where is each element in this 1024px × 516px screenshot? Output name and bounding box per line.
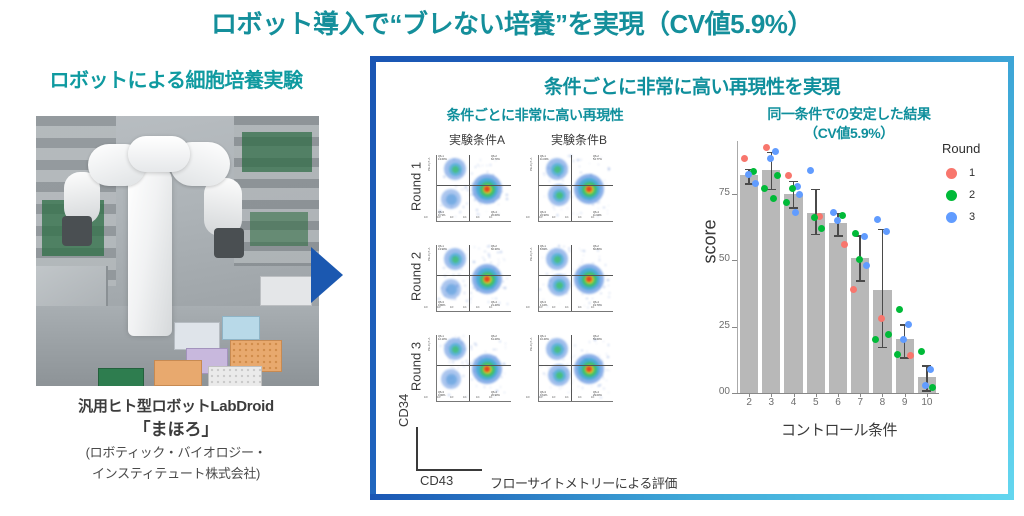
chart-error-cap — [767, 189, 776, 191]
chart-y-tick-mark — [732, 327, 737, 328]
chart-x-tick-label: 10 — [917, 397, 937, 408]
flow-scatter-panel: Q6-113.60% Q6-262.70% Q6-30.71% Q6-420.6… — [424, 149, 516, 233]
chart-x-tick-label: 6 — [828, 397, 848, 408]
chart-x-tick-mark — [794, 393, 795, 397]
chart-error-bar — [815, 189, 817, 234]
chart-data-point — [922, 382, 929, 389]
chart-error-cap — [878, 347, 887, 349]
right-arrow-icon — [311, 247, 343, 303]
chart-data-point — [850, 286, 857, 293]
chart-data-point — [863, 262, 870, 269]
flow-cytometry-block: 実験条件A 実験条件B Round 1 Round 2 Round 3 Q6-1… — [382, 131, 690, 483]
chart-data-point — [745, 171, 752, 178]
chart-data-point — [774, 172, 781, 179]
flow-plot-inner: Q6-113.60% Q6-262.70% Q6-30.71% Q6-420.6… — [436, 155, 511, 222]
left-column: ロボットによる細胞培養実験 汎用ヒト型ロボットLabDroid 「まほろ」 (ロ… — [0, 58, 352, 516]
legend-item-label: 1 — [969, 167, 975, 179]
chart-x-tick-label: 8 — [872, 397, 892, 408]
page-title: ロボット導入で“ブレない培養”を実現（CV値5.9%） — [0, 2, 1024, 46]
chart-data-point — [789, 185, 796, 192]
chart-data-point — [830, 209, 837, 216]
chart-y-tick-label: 25 — [704, 320, 730, 331]
chart-x-tick-mark — [905, 393, 906, 397]
legend-item[interactable]: 3 — [940, 206, 1004, 228]
flow-scatter-panel: Q6-113.90% Q6-260.30% Q6-30.80% Q6-421.4… — [424, 239, 516, 323]
chart-x-tick-label: 3 — [761, 397, 781, 408]
chart-data-point — [856, 256, 863, 263]
chart-data-point — [783, 199, 790, 206]
chart-data-point — [785, 172, 792, 179]
legend-item-label: 2 — [969, 189, 975, 201]
chart-error-cap — [811, 189, 820, 191]
flow-caption: フローサイトメトリーによる評価 — [490, 473, 677, 492]
chart-y-tick-label: 00 — [704, 386, 730, 397]
chart-x-tick-mark — [771, 393, 772, 397]
flow-plot-inner: Q6-18.82% Q6-260.80% Q6-31.10% Q6-419.70… — [538, 245, 613, 312]
flow-plot-inner: Q6-112.10% Q6-261.20% Q6-30.90% Q6-420.9… — [436, 335, 511, 402]
chart-bar — [807, 213, 825, 393]
chart-x-tick-mark — [816, 393, 817, 397]
legend-dot-icon — [946, 212, 957, 223]
legend-item[interactable]: 1 — [940, 162, 1004, 184]
chart-error-cap — [811, 234, 820, 236]
flow-scatter-panel: Q6-18.82% Q6-260.80% Q6-31.10% Q6-419.70… — [526, 239, 618, 323]
chart-error-bar — [882, 229, 884, 347]
panel-body: 条件ごとに非常に高い再現性 同一条件での安定した結果 （CV値5.9%） 実験条… — [376, 99, 1008, 489]
robot-caption-line2: 「まほろ」 — [0, 418, 352, 442]
flow-row-label-round2: Round 2 — [409, 237, 424, 317]
legend-dot-icon — [946, 190, 957, 201]
robot-caption-line3: (ロボティック・バイオロジー・ — [0, 442, 352, 463]
flow-x-axis-line — [416, 469, 482, 471]
chart-legend: Round 123 — [940, 141, 1004, 228]
chart-plot-area — [738, 141, 938, 393]
chart-data-point — [770, 195, 777, 202]
chart-data-point — [834, 217, 841, 224]
chart-data-point — [896, 306, 903, 313]
chart-error-cap — [834, 235, 843, 237]
chart-y-tick-mark — [732, 194, 737, 195]
flow-column-title-a: 実験条件A — [432, 131, 522, 148]
chart-subtitle-line1: 同一条件での安定した結果 — [694, 105, 1004, 124]
panel-title: 条件ごとに非常に高い再現性を実現 — [376, 72, 1008, 99]
chart-bar — [784, 194, 802, 393]
chart-data-point — [861, 233, 868, 240]
legend-dot-icon — [946, 168, 957, 179]
chart-error-cap — [856, 280, 865, 282]
chart-x-tick-mark — [749, 393, 750, 397]
flow-y-axis-line — [416, 427, 418, 471]
chart-data-point — [752, 180, 759, 187]
chart-y-tick-label: 75 — [704, 187, 730, 198]
results-panel: 条件ごとに非常に高い再現性を実現 条件ごとに非常に高い再現性 同一条件での安定し… — [370, 56, 1014, 500]
flow-plot-inner: Q6-113.90% Q6-260.30% Q6-30.80% Q6-421.4… — [436, 245, 511, 312]
chart-data-point — [807, 167, 814, 174]
chart-x-tick-label: 4 — [784, 397, 804, 408]
flow-section-subtitle: 条件ごとに非常に高い再現性 — [380, 105, 690, 125]
chart-data-point — [772, 148, 779, 155]
flow-scatter-panel: Q6-110.40% Q6-259.60% Q6-30.61% Q6-429.0… — [526, 329, 618, 413]
flow-plot-inner: Q6-111.00% Q6-254.77% Q6-322.90% Q6-411.… — [538, 155, 613, 222]
chart-x-tick-mark — [927, 393, 928, 397]
flow-column-title-b: 実験条件B — [534, 131, 624, 148]
score-bar-chart: score 002550752345678910 コントロール条件 Round … — [694, 135, 1004, 483]
chart-x-tick-mark — [838, 393, 839, 397]
chart-y-tick-label: 50 — [704, 253, 730, 264]
chart-y-tick-mark — [732, 260, 737, 261]
chart-data-point — [927, 366, 934, 373]
chart-x-tick-label: 7 — [850, 397, 870, 408]
chart-data-point — [741, 155, 748, 162]
chart-data-point — [767, 155, 774, 162]
chart-data-point — [874, 216, 881, 223]
robot-caption-line1: 汎用ヒト型ロボットLabDroid — [0, 396, 352, 418]
robot-photo — [36, 116, 319, 386]
chart-bar — [829, 223, 847, 393]
chart-x-tick-label: 9 — [895, 397, 915, 408]
flow-scatter-panel: Q6-112.10% Q6-261.20% Q6-30.90% Q6-420.9… — [424, 329, 516, 413]
flow-y-axis-label: CD34 — [396, 394, 411, 427]
chart-x-axis-label: コントロール条件 — [694, 419, 984, 440]
chart-data-point — [918, 348, 925, 355]
robot-caption-line4: インスティテュート株式会社) — [0, 463, 352, 484]
flow-row-label-round1: Round 1 — [409, 147, 424, 227]
chart-data-point — [763, 144, 770, 151]
chart-x-tick-label: 5 — [806, 397, 826, 408]
chart-y-tick-mark — [732, 393, 737, 394]
chart-data-point — [905, 321, 912, 328]
legend-title: Round — [940, 141, 1004, 156]
chart-x-tick-label: 2 — [739, 397, 759, 408]
flow-x-axis-label: CD43 — [420, 473, 453, 488]
legend-item-label: 3 — [969, 211, 975, 223]
left-section-heading: ロボットによる細胞培養実験 — [0, 58, 352, 93]
chart-data-point — [796, 191, 803, 198]
chart-x-tick-mark — [882, 393, 883, 397]
chart-data-point — [841, 241, 848, 248]
chart-data-point — [883, 228, 890, 235]
flow-scatter-panel: Q6-111.00% Q6-254.77% Q6-322.90% Q6-411.… — [526, 149, 618, 233]
flow-plot-inner: Q6-110.40% Q6-259.60% Q6-30.61% Q6-429.0… — [538, 335, 613, 402]
robot-caption-block: 汎用ヒト型ロボットLabDroid 「まほろ」 (ロボティック・バイオロジー・ … — [0, 396, 352, 484]
chart-x-tick-mark — [860, 393, 861, 397]
legend-item[interactable]: 2 — [940, 184, 1004, 206]
chart-bar — [740, 175, 758, 393]
chart-bar — [762, 170, 780, 393]
bottom-accent-strip — [370, 494, 1014, 500]
